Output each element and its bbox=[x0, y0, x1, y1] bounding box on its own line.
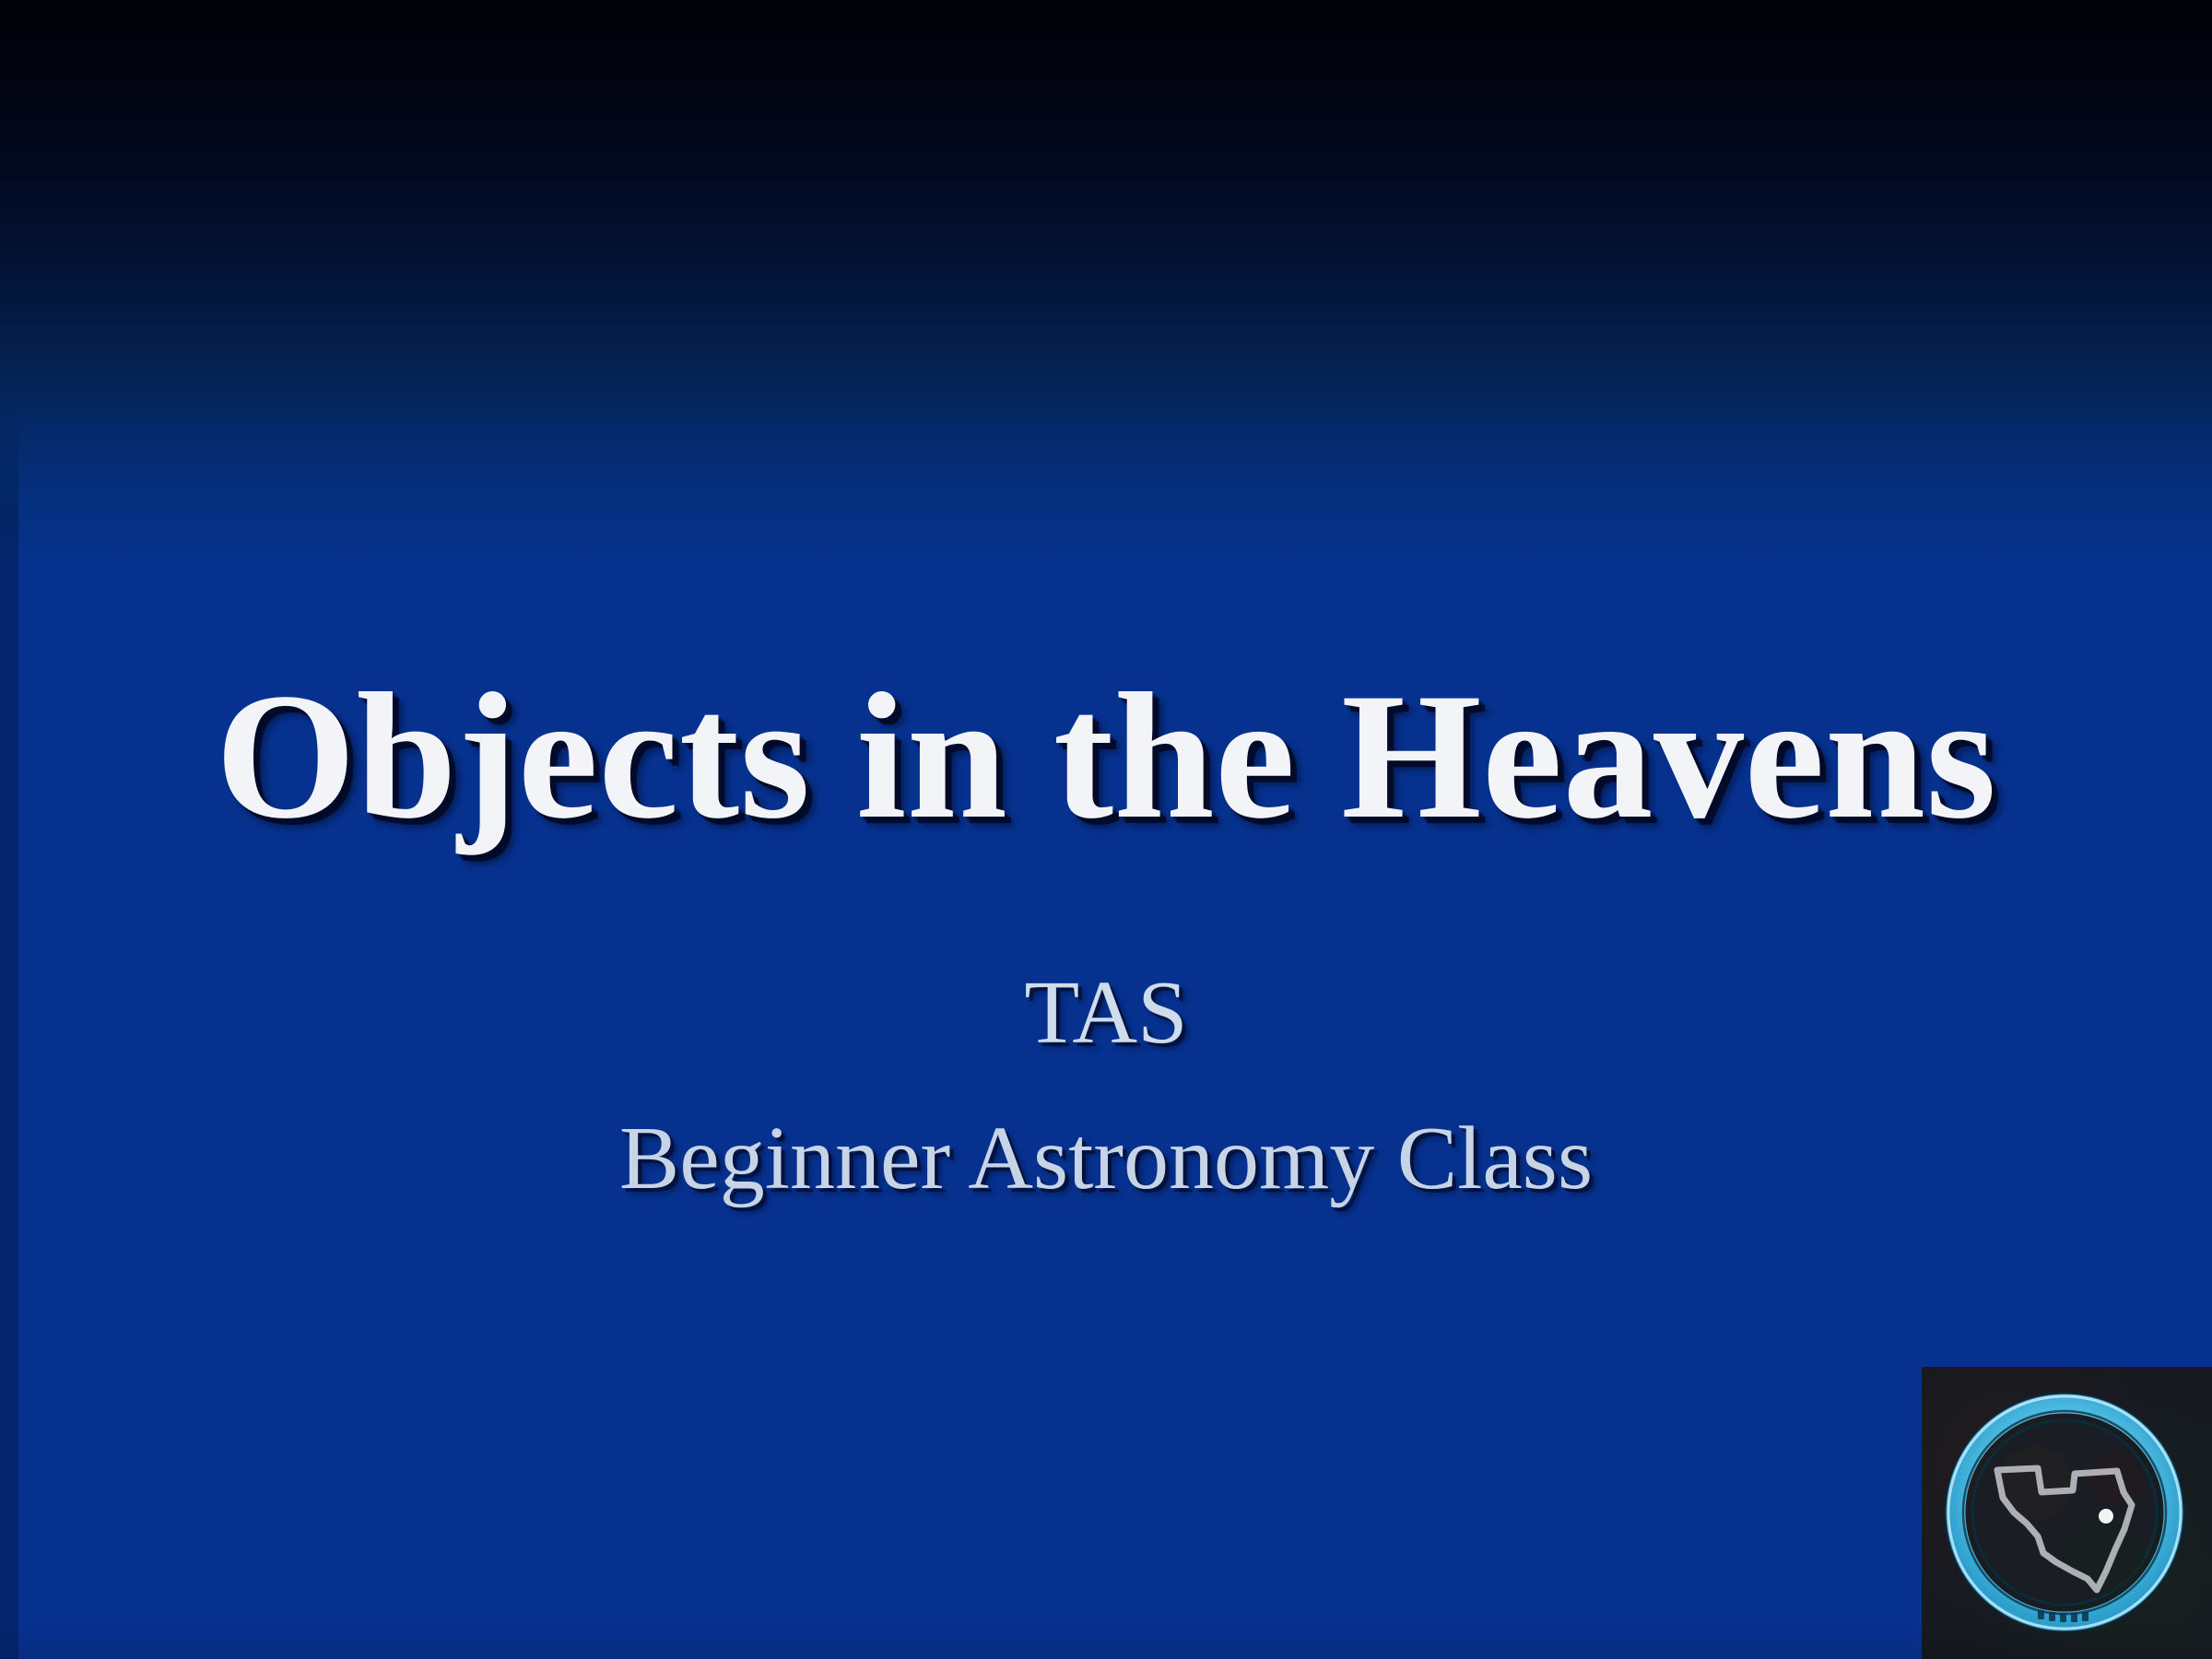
tas-logo-panel bbox=[1922, 1367, 2212, 1659]
bottom-edge-artifact bbox=[0, 1622, 2212, 1659]
presentation-slide: Objects in the Heavens TAS Beginner Astr… bbox=[0, 0, 2212, 1659]
subtitle-organization: TAS bbox=[0, 968, 2212, 1058]
logo-star-marker bbox=[2099, 1509, 2113, 1524]
slide-subtitle-block: TAS Beginner Astronomy Class bbox=[0, 968, 2212, 1204]
subtitle-class-name: Beginner Astronomy Class bbox=[0, 1113, 2212, 1204]
slide-title: Objects in the Heavens bbox=[0, 666, 2212, 847]
tas-logo-icon bbox=[1935, 1382, 2194, 1641]
